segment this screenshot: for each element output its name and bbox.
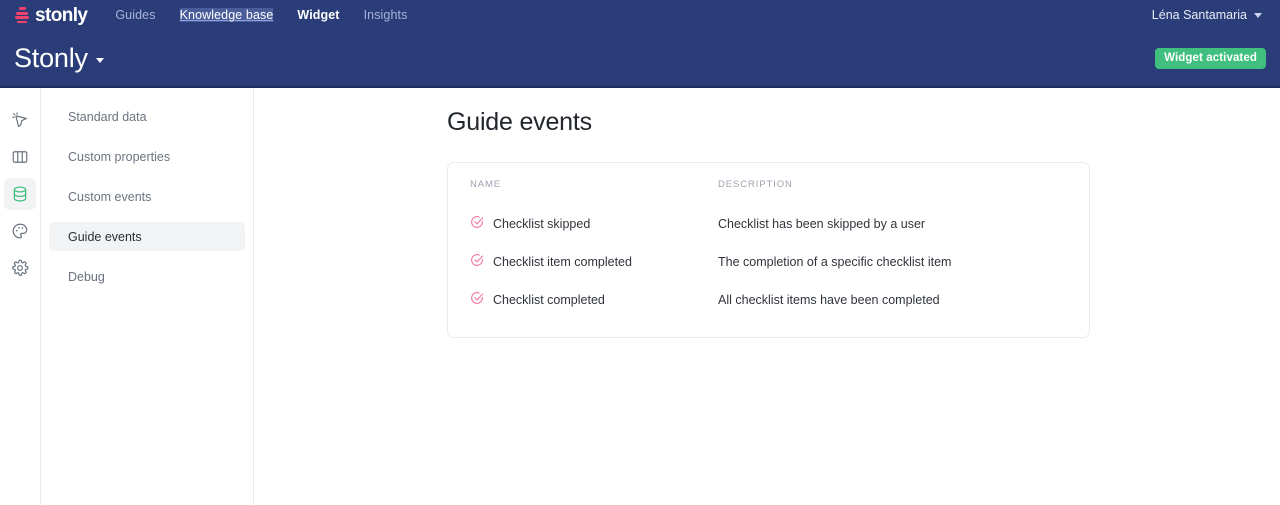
rail-item-settings[interactable] bbox=[4, 252, 36, 284]
nav-link-insights[interactable]: Insights bbox=[364, 8, 408, 22]
gear-icon bbox=[11, 259, 29, 277]
event-name: Checklist skipped bbox=[493, 217, 590, 231]
global-navbar: stonly Guides Knowledge base Widget Insi… bbox=[0, 0, 1280, 30]
sidebar-item-custom-events[interactable]: Custom events bbox=[49, 182, 245, 211]
check-circle-icon bbox=[470, 291, 484, 310]
sidebar-item-label: Custom events bbox=[68, 190, 151, 204]
chevron-down-icon bbox=[1254, 13, 1262, 18]
event-description: All checklist items have been completed bbox=[718, 293, 1067, 307]
chevron-down-icon bbox=[96, 58, 104, 63]
stonly-logo-icon bbox=[15, 7, 29, 23]
sidebar-item-label: Debug bbox=[68, 270, 105, 284]
nav-link-guides[interactable]: Guides bbox=[115, 8, 155, 22]
user-name: Léna Santamaria bbox=[1152, 8, 1247, 22]
sidebar-item-label: Standard data bbox=[68, 110, 147, 124]
rail-item-data[interactable] bbox=[4, 178, 36, 210]
top-navy-band: stonly Guides Knowledge base Widget Insi… bbox=[0, 0, 1280, 88]
sidebar-item-debug[interactable]: Debug bbox=[49, 262, 245, 291]
site-selector[interactable]: Stonly bbox=[14, 45, 104, 72]
column-header-name: NAME bbox=[470, 179, 718, 190]
user-menu[interactable]: Léna Santamaria bbox=[1152, 8, 1262, 22]
sidebar-item-standard-data[interactable]: Standard data bbox=[49, 102, 245, 131]
site-header-row: Stonly Widget activated bbox=[0, 34, 1280, 82]
palette-icon bbox=[11, 222, 29, 240]
status-badge: Widget activated bbox=[1155, 48, 1266, 69]
rail-item-layout[interactable] bbox=[4, 141, 36, 173]
event-description: Checklist has been skipped by a user bbox=[718, 217, 1067, 231]
guide-events-table-card: NAME DESCRIPTION Checklist skipped Check… bbox=[447, 162, 1090, 338]
check-circle-icon bbox=[470, 253, 484, 272]
cursor-click-icon bbox=[11, 111, 29, 129]
event-name: Checklist completed bbox=[493, 293, 605, 307]
stonly-logo[interactable]: stonly bbox=[15, 6, 87, 25]
sidebar-item-label: Custom properties bbox=[68, 150, 170, 164]
table-row[interactable]: Checklist skipped Checklist has been ski… bbox=[448, 205, 1089, 243]
table-header-row: NAME DESCRIPTION bbox=[448, 163, 1089, 205]
page-title: Guide events bbox=[447, 108, 592, 137]
columns-layout-icon bbox=[11, 148, 29, 166]
nav-link-knowledge-base[interactable]: Knowledge base bbox=[180, 8, 274, 22]
site-title: Stonly bbox=[14, 45, 88, 72]
event-name: Checklist item completed bbox=[493, 255, 632, 269]
rail-item-cursor-click[interactable] bbox=[4, 104, 36, 136]
event-description: The completion of a specific checklist i… bbox=[718, 255, 1067, 269]
main-content: Guide events NAME DESCRIPTION Checklist … bbox=[255, 88, 1280, 505]
sidebar-item-guide-events[interactable]: Guide events bbox=[49, 222, 245, 251]
column-header-description: DESCRIPTION bbox=[718, 179, 1067, 190]
sidebar-item-custom-properties[interactable]: Custom properties bbox=[49, 142, 245, 171]
table-row[interactable]: Checklist completed All checklist items … bbox=[448, 281, 1089, 319]
logo-wordmark: stonly bbox=[35, 6, 87, 25]
database-icon bbox=[11, 185, 29, 203]
table-row[interactable]: Checklist item completed The completion … bbox=[448, 243, 1089, 281]
icon-rail bbox=[0, 88, 41, 505]
check-circle-icon bbox=[470, 215, 484, 234]
sidebar-item-label: Guide events bbox=[68, 230, 142, 244]
nav-links: Guides Knowledge base Widget Insights bbox=[115, 8, 407, 22]
rail-item-appearance[interactable] bbox=[4, 215, 36, 247]
nav-link-widget[interactable]: Widget bbox=[297, 8, 339, 22]
settings-sidebar: Standard data Custom properties Custom e… bbox=[41, 88, 254, 505]
